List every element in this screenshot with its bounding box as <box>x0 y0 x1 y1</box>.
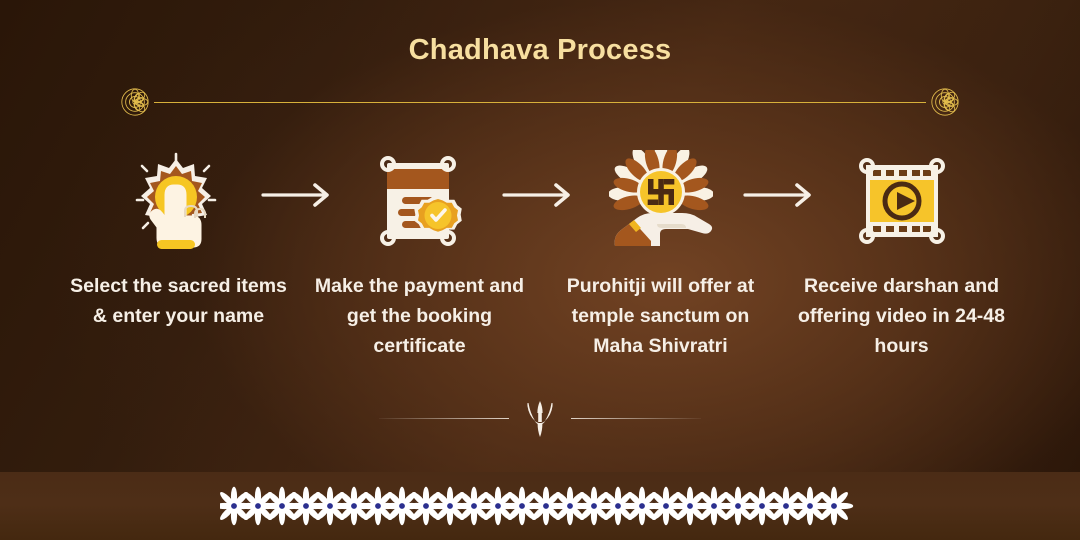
bottom-trishul-divider <box>0 398 1080 438</box>
divider-line <box>154 102 926 103</box>
process-steps: Select the sacred items & enter your nam… <box>0 148 1080 361</box>
arrow-right-icon <box>259 182 337 208</box>
step-caption: Receive darshan and offering video in 24… <box>781 271 1022 361</box>
page-title: Chadhava Process <box>0 34 1080 67</box>
mandala-rosette-icon <box>118 85 152 119</box>
video-film-play-icon <box>852 156 952 246</box>
step-caption: Make the payment and get the booking cer… <box>299 271 540 361</box>
offering-hand-swastika-icon <box>609 150 713 252</box>
step-caption: Select the sacred items & enter your nam… <box>58 271 299 331</box>
divider-line-right <box>571 418 701 419</box>
divider-line-left <box>379 418 509 419</box>
process-step[interactable]: Purohitji will offer at temple sanctum o… <box>540 148 781 361</box>
flower-border <box>0 472 1080 540</box>
top-ornament-divider <box>118 85 962 119</box>
step-caption: Purohitji will offer at temple sanctum o… <box>540 271 781 361</box>
certificate-seal-icon <box>371 151 469 251</box>
process-step[interactable]: Select the sacred items & enter your nam… <box>58 148 299 331</box>
process-step[interactable]: Receive darshan and offering video in 24… <box>781 148 1022 361</box>
arrow-right-icon <box>741 182 819 208</box>
hand-tap-select-icon <box>131 150 227 252</box>
chadhava-process-banner: Chadhava Process <box>0 0 1080 540</box>
process-step[interactable]: Make the payment and get the booking cer… <box>299 148 540 361</box>
eight-petal-flower-icon <box>220 484 860 528</box>
trishul-icon <box>523 398 557 438</box>
mandala-rosette-icon <box>928 85 962 119</box>
arrow-right-icon <box>500 182 578 208</box>
